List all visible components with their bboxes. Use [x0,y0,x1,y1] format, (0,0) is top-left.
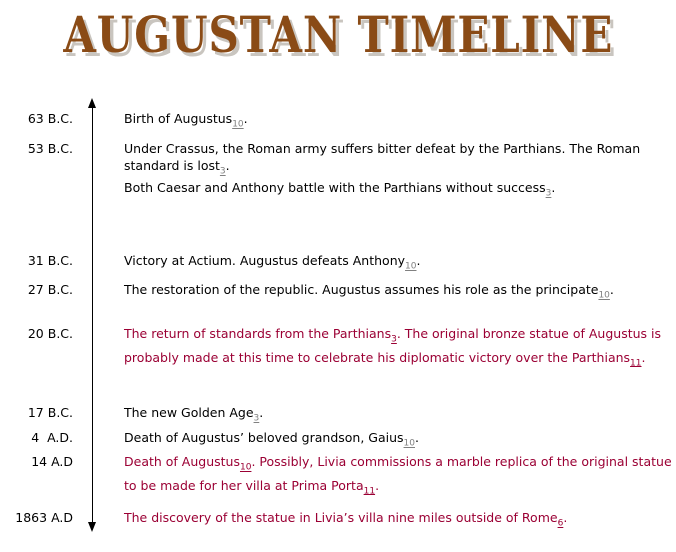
footnote-reference[interactable]: 11 [630,358,641,368]
footnote-reference[interactable]: 10 [404,439,415,449]
timeline-entry-date: 20 B.C. [0,325,73,342]
entry-text: Victory at Actium. Augustus defeats Anth… [124,253,405,268]
footnote-reference[interactable]: 10 [232,120,243,130]
entry-text: . [226,158,230,173]
entry-text: . [375,478,379,493]
page-title-text: AUGUSTAN TIMELINE [63,6,613,64]
entry-text: Birth of Augustus [124,111,232,126]
timeline-entry-description: Victory at Actium. Augustus defeats Anth… [124,252,672,276]
timeline-entry-description: The new Golden Age3. [124,404,672,428]
entry-text: Death of Augustus’ beloved grandson, Gai… [124,430,404,445]
entry-text: . [259,405,263,420]
entry-text: . [551,180,555,195]
axis-line [92,106,93,524]
entry-text: Both Caesar and Anthony battle with the … [124,180,546,195]
entry-text: The discovery of the statue in Livia’s v… [124,510,558,525]
entry-text: . [563,510,567,525]
timeline-entry-date: 53 B.C. [0,140,73,157]
entry-text: . [415,430,419,445]
entry-text: The new Golden Age [124,405,254,420]
footnote-reference[interactable]: 11 [364,486,375,496]
timeline-axis [88,98,97,532]
timeline-entry-description: The return of standards from the Parthia… [124,325,672,372]
footnote-reference[interactable]: 10 [240,463,251,473]
entry-text: Death of Augustus [124,454,240,469]
entry-text: . [244,111,248,126]
footnote-reference[interactable]: 10 [405,262,416,272]
down-arrow-icon [88,522,96,532]
footnote-reference[interactable]: 10 [598,291,609,301]
timeline-entry-description: Death of Augustus10. Possibly, Livia com… [124,453,672,500]
timeline-entry-description: Both Caesar and Anthony battle with the … [124,179,672,203]
entry-text: The return of standards from the Parthia… [124,326,391,341]
timeline-entry-date: 27 B.C. [0,281,73,298]
timeline-entry-description: The discovery of the statue in Livia’s v… [124,509,672,533]
entry-text: . [642,350,646,365]
timeline-entry-date: 63 B.C. [0,110,73,127]
timeline-entry-description: Birth of Augustus10. [124,110,672,134]
entry-text: . [610,282,614,297]
timeline-entry-date: 1863 A.D [0,509,73,526]
timeline-entry-description: Under Crassus, the Roman army suffers bi… [124,140,672,181]
entry-text: . [416,253,420,268]
timeline-entry-date: 17 B.C. [0,404,73,421]
timeline-entry-date: 4 A.D. [0,429,73,446]
entry-text: The restoration of the republic. Augustu… [124,282,598,297]
timeline-entry-description: Death of Augustus’ beloved grandson, Gai… [124,429,672,453]
entry-text: Under Crassus, the Roman army suffers bi… [124,141,640,173]
timeline-entry-description: The restoration of the republic. Augustu… [124,281,672,305]
page-title: AUGUSTAN TIMELINE [0,6,676,64]
timeline-entry-date: 31 B.C. [0,252,73,269]
timeline-entry-date: 14 A.D [0,453,73,470]
